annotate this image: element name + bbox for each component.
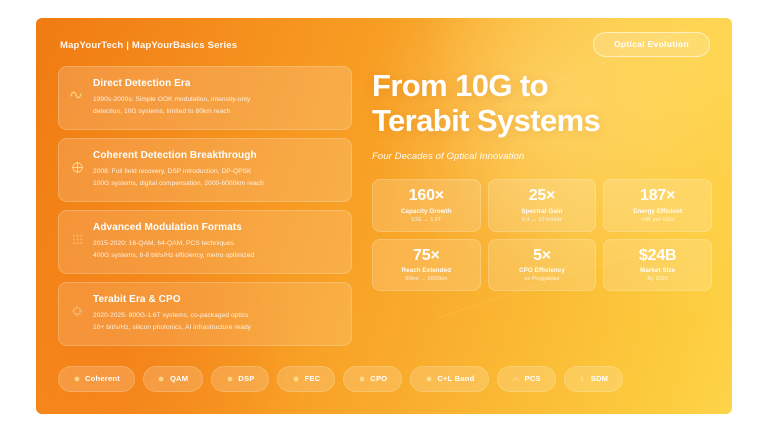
dot-icon (226, 375, 233, 382)
timeline-card-line1: 2015-2020: 16-QAM, 64-QAM, PCS technique… (93, 238, 339, 250)
timeline-card-coherent-detection[interactable]: Coherent Detection Breakthrough 2008: Fu… (58, 138, 352, 202)
stat-card-reach-extended[interactable]: 75× Reach Extended 80km → 6000km (372, 239, 481, 292)
status-badge: Optical Evolution (593, 32, 710, 57)
stats-grid: 160× Capacity Growth 10G → 1.6T 25× Spec… (372, 179, 712, 291)
tag-pill-label: PCS (524, 374, 540, 383)
timeline-card-description: 1990s-2000s: Simple OOK modulation, inte… (93, 94, 339, 117)
timeline-card-description: 2020-2025: 800G-1.6T systems, co-package… (93, 310, 339, 333)
bar-icon (579, 375, 586, 382)
stat-value: $24B (608, 247, 707, 265)
stat-sublabel: 10G → 1.6T (377, 217, 476, 223)
timeline-card-description: 2015-2020: 16-QAM, 64-QAM, PCS technique… (93, 238, 339, 261)
stat-value: 25× (493, 187, 592, 205)
page-subtitle: Four Decades of Optical Innovation (372, 151, 712, 162)
chip-icon (69, 303, 85, 319)
stat-label: Capacity Growth (377, 208, 476, 215)
tag-pill-sdm[interactable]: SDM (564, 366, 623, 392)
tag-pill-label: SDM (591, 374, 608, 383)
page-title: From 10G to Terabit Systems (372, 68, 712, 138)
tag-pill-cpo[interactable]: CPO (343, 366, 402, 392)
stat-value: 187× (608, 187, 707, 205)
headline-line-1: From 10G to (372, 68, 712, 103)
headline-line-2: Terabit Systems (372, 103, 712, 138)
technology-tag-list: Coherent QAM DSP FEC CPO (58, 366, 623, 392)
stat-label: Reach Extended (377, 267, 476, 274)
brand-label: MapYourTech | MapYourBasics Series (60, 40, 237, 51)
timeline-list: Direct Detection Era 1990s-2000s: Simple… (58, 66, 352, 346)
tag-pill-cl-band[interactable]: C+L Band (410, 366, 489, 392)
dot-icon (358, 375, 365, 382)
tag-pill-label: DSP (238, 374, 254, 383)
stat-card-market-size[interactable]: $24B Market Size By 2029 (603, 239, 712, 292)
tag-pill-label: QAM (170, 374, 188, 383)
stat-value: 160× (377, 187, 476, 205)
timeline-card-line1: 1990s-2000s: Simple OOK modulation, inte… (93, 94, 339, 106)
timeline-card-advanced-modulation[interactable]: Advanced Modulation Formats 2015-2020: 1… (58, 210, 352, 274)
tag-pill-pcs[interactable]: PCS (497, 366, 555, 392)
tag-pill-label: CPO (370, 374, 387, 383)
timeline-card-title: Coherent Detection Breakthrough (93, 150, 339, 161)
tag-pill-label: FEC (304, 374, 320, 383)
timeline-card-line1: 2020-2025: 800G-1.6T systems, co-package… (93, 310, 339, 322)
stat-sublabel: By 2029 (608, 276, 707, 282)
timeline-card-line2: 100G systems, digital compensation, 2000… (93, 178, 339, 190)
tag-pill-coherent[interactable]: Coherent (58, 366, 135, 392)
tag-pill-fec[interactable]: FEC (277, 366, 335, 392)
stat-card-cpo-efficiency[interactable]: 5× CPO Efficiency vs Pluggables (488, 239, 597, 292)
stat-card-spectral-gain[interactable]: 25× Spectral Gain 0.4 → 10 b/s/Hz (488, 179, 597, 232)
dot-icon (73, 375, 80, 382)
main-content: From 10G to Terabit Systems Four Decades… (372, 68, 712, 291)
stat-value: 75× (377, 247, 476, 265)
stat-sublabel: 80km → 6000km (377, 276, 476, 282)
tag-pill-qam[interactable]: QAM (143, 366, 203, 392)
caret-icon (512, 375, 519, 382)
timeline-card-title: Advanced Modulation Formats (93, 222, 339, 233)
stat-card-capacity-growth[interactable]: 160× Capacity Growth 10G → 1.6T (372, 179, 481, 232)
stat-value: 5× (493, 247, 592, 265)
timeline-card-line2: 10+ bit/s/Hz, silicon photonics, AI infr… (93, 322, 339, 334)
timeline-card-direct-detection[interactable]: Direct Detection Era 1990s-2000s: Simple… (58, 66, 352, 130)
tag-pill-label: C+L Band (437, 374, 474, 383)
tag-pill-label: Coherent (85, 374, 120, 383)
stat-sublabel: vs Pluggables (493, 276, 592, 282)
stat-label: Spectral Gain (493, 208, 592, 215)
dot-icon (292, 375, 299, 382)
stat-label: Market Size (608, 267, 707, 274)
timeline-card-line1: 2008: Full field recovery, DSP introduct… (93, 166, 339, 178)
stat-sublabel: 0.4 → 10 b/s/Hz (493, 217, 592, 223)
constellation-crosshair-icon (69, 159, 85, 175)
qam-grid-icon (69, 231, 85, 247)
timeline-card-title: Terabit Era & CPO (93, 294, 339, 305)
stat-label: CPO Efficiency (493, 267, 592, 274)
stat-card-energy-efficient[interactable]: 187× Energy Efficient mW per Gb/s (603, 179, 712, 232)
timeline-card-line2: 400G systems, 6-8 bit/s/Hz efficiency, m… (93, 250, 339, 262)
dot-icon (158, 375, 165, 382)
sine-wave-icon (69, 87, 85, 103)
dot-icon (425, 375, 432, 382)
timeline-card-description: 2008: Full field recovery, DSP introduct… (93, 166, 339, 189)
timeline-card-terabit-cpo[interactable]: Terabit Era & CPO 2020-2025: 800G-1.6T s… (58, 282, 352, 346)
timeline-card-line2: detection, 10G systems, limited to 80km … (93, 106, 339, 118)
timeline-card-title: Direct Detection Era (93, 78, 339, 89)
stat-label: Energy Efficient (608, 208, 707, 215)
slide-canvas: MapYourTech | MapYourBasics Series Optic… (36, 18, 732, 414)
tag-pill-dsp[interactable]: DSP (211, 366, 269, 392)
stat-sublabel: mW per Gb/s (608, 217, 707, 223)
